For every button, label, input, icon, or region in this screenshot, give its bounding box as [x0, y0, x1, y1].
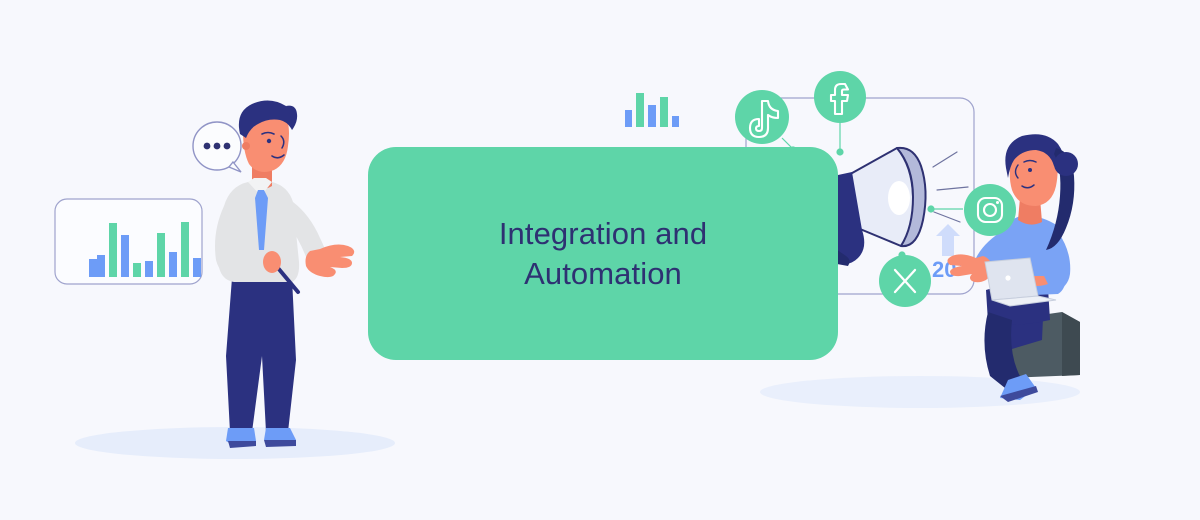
left-bar-chart-panel: [55, 199, 202, 284]
tiktok-icon[interactable]: [735, 90, 789, 144]
speech-bubble: [193, 122, 241, 172]
x-twitter-icon[interactable]: [879, 255, 931, 307]
bubble-dot: [224, 143, 231, 150]
bubble-dot: [204, 143, 211, 150]
page-title: Integration and Automation: [499, 214, 707, 293]
woman-figure: [947, 134, 1080, 402]
bubble-dot: [214, 143, 221, 150]
instagram-icon[interactable]: [964, 184, 1016, 236]
hero-card[interactable]: Integration and Automation: [368, 147, 838, 360]
facebook-icon[interactable]: [814, 71, 866, 123]
illustration-banner: 20 %: [0, 0, 1200, 520]
